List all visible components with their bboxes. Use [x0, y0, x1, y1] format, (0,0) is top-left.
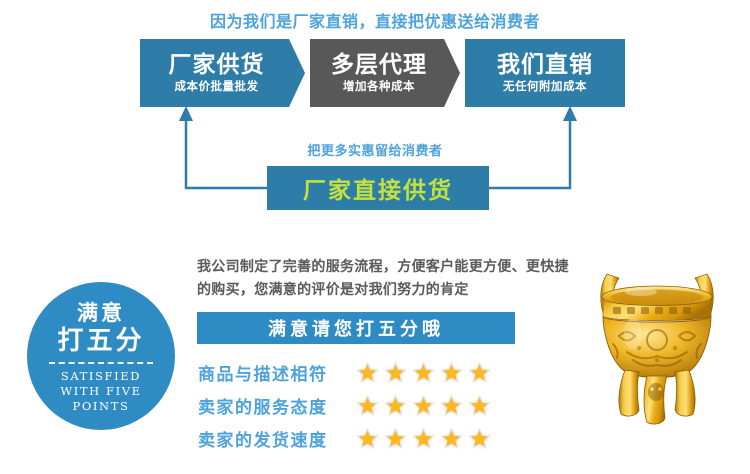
rating-row-seller-service: 卖家的服务态度	[198, 389, 578, 422]
satisfaction-badge: 满意 打五分 SATISFIED WITH FIVE POINTS	[27, 282, 175, 430]
star-icon[interactable]	[356, 427, 379, 450]
star-icon[interactable]	[356, 394, 379, 417]
rating-stars-shipping-speed[interactable]	[356, 427, 491, 450]
rating-banner-label: 满意请您打五分哦	[268, 315, 444, 341]
rating-label: 卖家的服务态度	[198, 393, 348, 418]
flow-step-direct-sales: 我们直销 无任何附加成本	[465, 39, 625, 107]
badge-cn-line-2: 打五分	[57, 327, 144, 356]
badge-en-line-1: SATISFIED	[61, 369, 141, 384]
flow-step-title: 厂家供货	[169, 53, 265, 77]
star-icon[interactable]	[384, 394, 407, 417]
star-icon[interactable]	[356, 361, 379, 384]
flow-caption: 把更多实惠留给消费者	[260, 140, 490, 159]
star-icon[interactable]	[440, 427, 463, 450]
flow-step-multi-level-agents: 多层代理 增加各种成本	[310, 39, 460, 107]
flow-step-subtitle: 增加各种成本	[343, 80, 415, 93]
badge-en-line-2: WITH FIVE	[60, 384, 141, 399]
star-icon[interactable]	[468, 394, 491, 417]
star-icon[interactable]	[440, 361, 463, 384]
direct-supply-box: 厂家直接供货	[267, 166, 489, 210]
flow-step-subtitle: 无任何附加成本	[503, 80, 587, 93]
rating-banner: 满意请您打五分哦	[197, 312, 515, 344]
rating-row-product-match: 商品与描述相符	[198, 356, 578, 389]
star-icon[interactable]	[440, 394, 463, 417]
flow-steps-row: 厂家供货 成本价批量批发 多层代理 增加各种成本 我们直销 无任何附加成本	[140, 39, 625, 107]
star-icon[interactable]	[412, 361, 435, 384]
flow-step-title: 多层代理	[331, 53, 427, 77]
star-icon[interactable]	[468, 427, 491, 450]
star-icon[interactable]	[468, 361, 491, 384]
rating-rows: 商品与描述相符 卖家的服务态度 卖家的发货速度	[198, 356, 578, 455]
direct-supply-label: 厂家直接供货	[303, 171, 453, 205]
star-icon[interactable]	[384, 427, 407, 450]
rating-label: 卖家的发货速度	[198, 426, 348, 451]
flow-headline: 因为我们是厂家直销，直接把优惠送给消费者	[0, 8, 750, 32]
badge-cn-line-1: 满意	[77, 302, 125, 326]
golden-ding-vessel-image	[567, 252, 747, 427]
badge-en-line-3: POINTS	[73, 399, 130, 414]
flow-step-manufacturer-supply: 厂家供货 成本价批量批发	[140, 39, 305, 107]
service-intro-line-1: 我公司制定了完善的服务流程，方便客户能更方便、更快捷	[197, 256, 627, 279]
star-icon[interactable]	[412, 427, 435, 450]
service-rating-section: 满意 打五分 SATISFIED WITH FIVE POINTS 我公司制定了…	[0, 237, 750, 474]
rating-label: 商品与描述相符	[198, 360, 348, 385]
rating-row-shipping-speed: 卖家的发货速度	[198, 422, 578, 455]
flow-step-subtitle: 成本价批量批发	[175, 80, 259, 93]
star-icon[interactable]	[384, 361, 407, 384]
flow-diagram-section: 因为我们是厂家直销，直接把优惠送给消费者 厂家供货 成本价批量批发 多层代理 增…	[0, 0, 750, 237]
flow-step-title: 我们直销	[497, 53, 593, 77]
rating-stars-seller-service[interactable]	[356, 394, 491, 417]
service-intro-copy: 我公司制定了完善的服务流程，方便客户能更方便、更快捷 的购买，您满意的评价是对我…	[197, 256, 627, 301]
star-icon[interactable]	[412, 394, 435, 417]
service-intro-line-2: 的购买，您满意的评价是对我们努力的肯定	[197, 279, 627, 302]
rating-stars-product-match[interactable]	[356, 361, 491, 384]
badge-dashed-divider	[49, 362, 153, 364]
